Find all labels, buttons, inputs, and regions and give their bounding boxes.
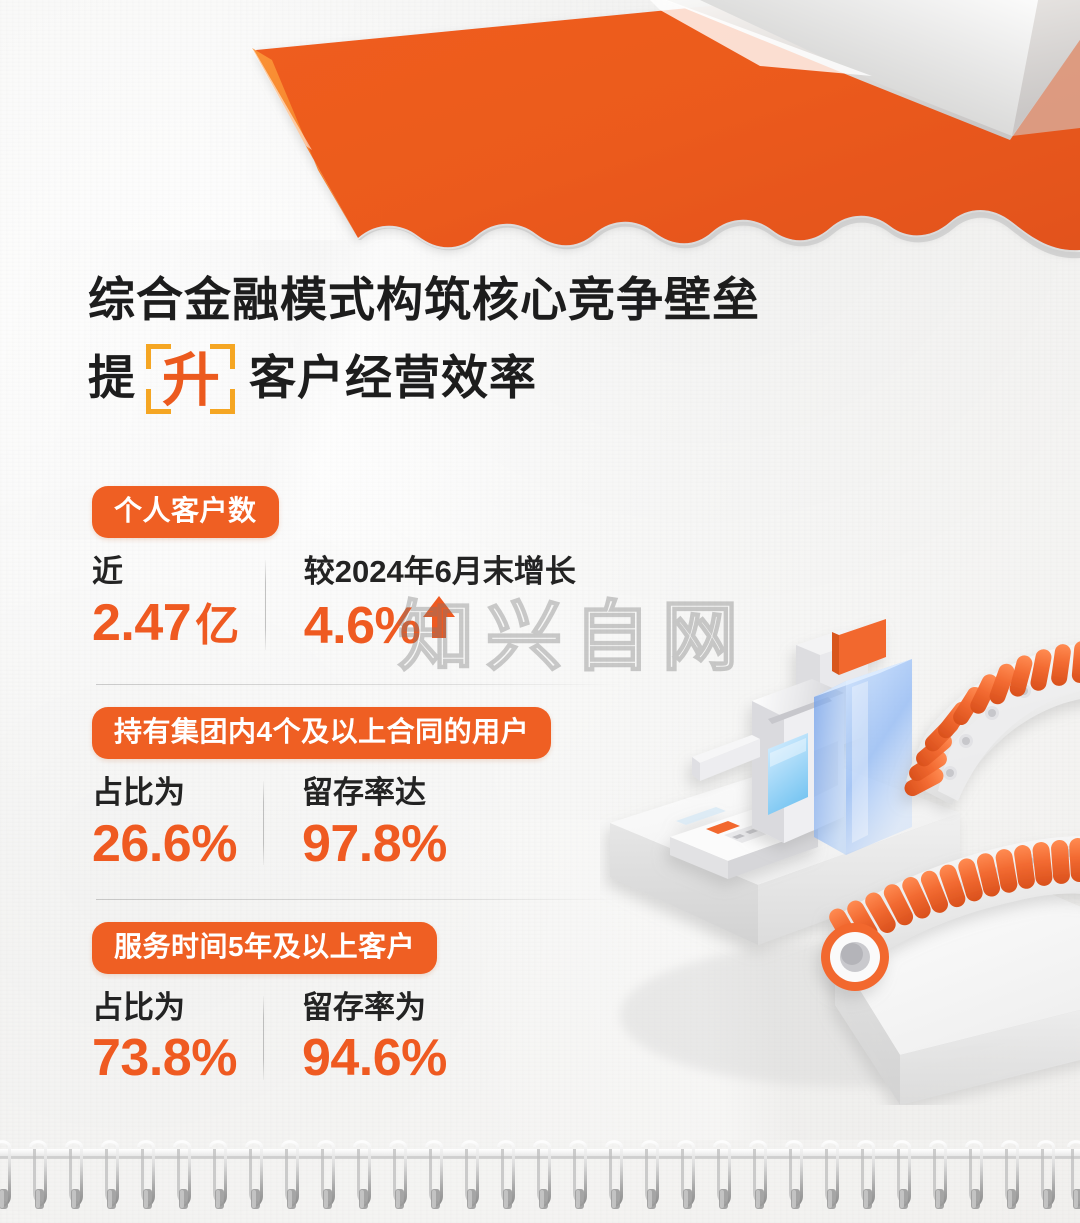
stats-row-1: 近 2.47亿 较2024年6月末增长 4.6% — [92, 554, 732, 658]
stat-label: 留存率达 — [302, 775, 447, 811]
stat-value: 97.8% — [302, 815, 447, 873]
title-line-1: 综合金融模式构筑核心竞争壁垒 — [88, 275, 968, 326]
metric-section-3: 服务时间5年及以上客户 占比为 73.8% 留存率为 94.6% — [92, 922, 732, 1088]
section-badge-2: 持有集团内4个及以上合同的用户 — [92, 707, 551, 759]
stat-item-2-2: 留存率达 97.8% — [264, 775, 473, 873]
title-line2-suffix: 客户经营效率 — [249, 353, 537, 404]
stat-item-3-2: 留存率为 94.6% — [264, 990, 473, 1088]
stat-value: 2.47亿 — [92, 594, 239, 652]
stat-item-3-1: 占比为 73.8% — [92, 990, 263, 1088]
stats-row-3: 占比为 73.8% 留存率为 94.6% — [92, 990, 732, 1088]
stat-number: 4.6% — [304, 597, 421, 655]
title-line-2: 提 升 客户经营效率 — [88, 344, 968, 414]
metrics-container: 个人客户数 近 2.47亿 较2024年6月末增长 4.6% — [92, 486, 732, 1088]
stat-value: 26.6% — [92, 815, 237, 873]
stat-label: 占比为 — [92, 990, 237, 1026]
title-line2-prefix: 提 — [88, 353, 136, 404]
stat-label: 留存率为 — [302, 990, 447, 1026]
stat-label: 近 — [92, 554, 239, 590]
stat-value: 94.6% — [302, 1029, 447, 1087]
section-divider-2 — [96, 899, 626, 900]
stat-label: 较2024年6月末增长 — [304, 554, 576, 590]
title-block: 综合金融模式构筑核心竞争壁垒 提 升 客户经营效率 — [88, 275, 968, 414]
stat-value: 4.6% — [304, 594, 576, 658]
stat-unit: 亿 — [195, 601, 239, 650]
stat-item-1-1: 近 2.47亿 — [92, 554, 265, 652]
infographic-poster: 综合金融模式构筑核心竞争壁垒 提 升 客户经营效率 个人客户数 近 2.47亿 — [0, 0, 1080, 1223]
stat-label: 占比为 — [92, 775, 237, 811]
section-divider-1 — [96, 684, 626, 685]
stats-row-2: 占比为 26.6% 留存率达 97.8% — [92, 775, 732, 873]
top-orange-band — [0, 0, 1080, 300]
trend-up-arrow-icon — [422, 594, 456, 652]
stat-value: 73.8% — [92, 1029, 237, 1087]
section-badge-1: 个人客户数 — [92, 486, 279, 538]
stat-item-2-1: 占比为 26.6% — [92, 775, 263, 873]
spiral-binding — [0, 1127, 1080, 1223]
stat-number: 2.47 — [92, 594, 191, 652]
title-highlight-char: 升 — [162, 352, 221, 410]
stat-item-1-2: 较2024年6月末增长 4.6% — [266, 554, 602, 658]
section-badge-3: 服务时间5年及以上客户 — [92, 922, 437, 974]
metric-section-2: 持有集团内4个及以上合同的用户 占比为 26.6% 留存率达 97.8% — [92, 707, 732, 873]
metric-section-1: 个人客户数 近 2.47亿 较2024年6月末增长 4.6% — [92, 486, 732, 658]
highlight-char-frame: 升 — [146, 344, 235, 414]
